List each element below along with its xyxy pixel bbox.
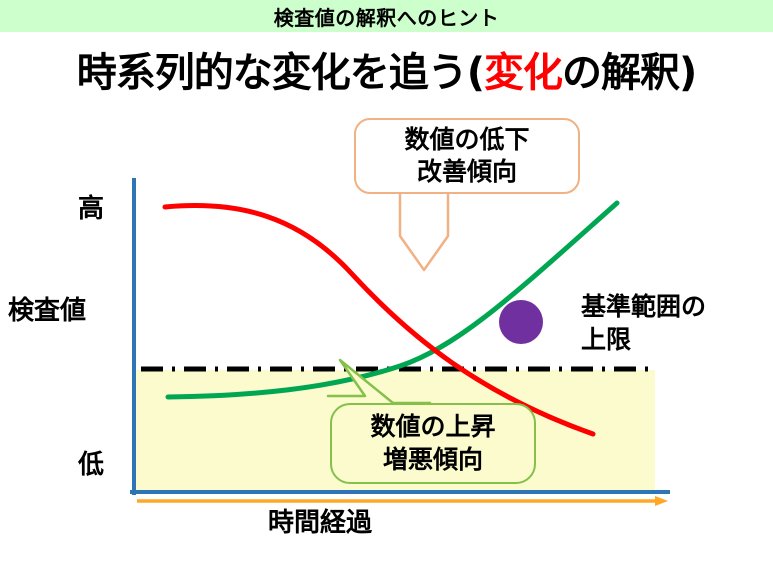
chart-area: 高 低 検査値 時間経過 基準範囲の 上限 数値の低下 改善傾向 数値の上昇 増… [0,104,773,580]
time-direction-arrow-head [655,496,668,506]
reference-limit-annotation-line1: 基準範囲の [581,290,706,323]
callout-rise-line2: 増悪傾向 [383,444,483,477]
y-axis-low-label: 低 [78,444,104,481]
callout-decline-line1: 数値の低下 [404,124,529,157]
callout-decline-line2: 改善傾向 [417,156,517,189]
callout-decline-tail [400,194,448,270]
page-title-suffix: の解釈) [562,50,696,96]
page-title-accent: 変化 [484,50,562,96]
crossover-point-marker [499,300,543,344]
header-banner: 検査値の解釈へのヒント [0,0,773,32]
reference-limit-annotation: 基準範囲の 上限 [581,290,706,356]
page-title-prefix: 時系列的な変化を追う( [77,50,484,96]
callout-rise: 数値の上昇 増悪傾向 [330,403,536,484]
page-title: 時系列的な変化を追う(変化の解釈) [0,40,773,98]
callout-decline: 数値の低下 改善傾向 [354,118,580,194]
header-banner-title: 検査値の解釈へのヒント [274,2,500,31]
y-axis-title: 検査値 [8,290,86,327]
reference-limit-annotation-line2: 上限 [581,323,706,356]
x-axis-title: 時間経過 [0,502,640,539]
callout-rise-line1: 数値の上昇 [370,411,495,444]
y-axis-high-label: 高 [78,188,104,225]
